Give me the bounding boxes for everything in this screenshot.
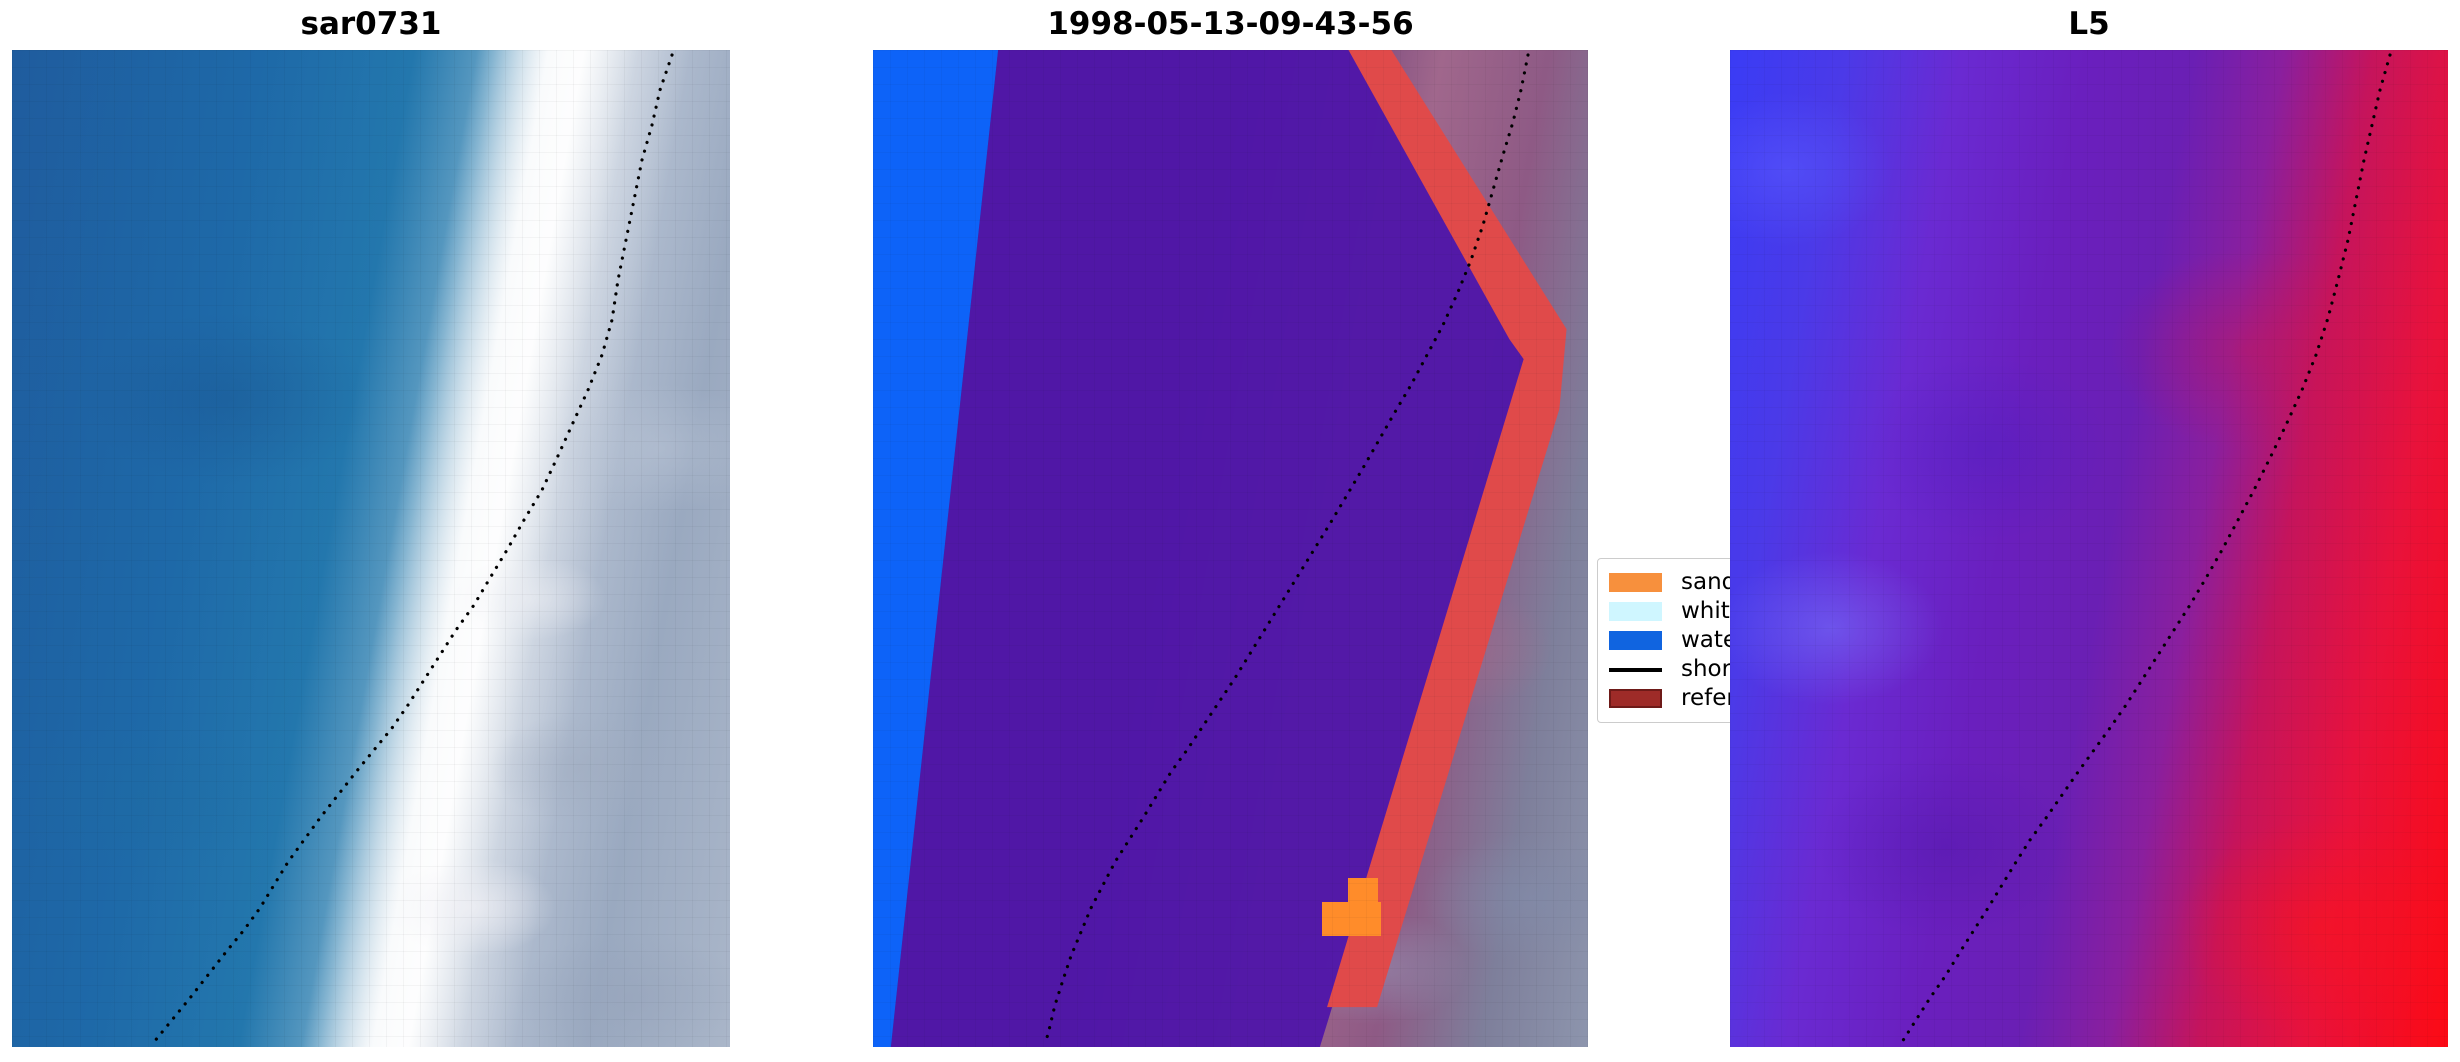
legend-item-water[interactable]: water bbox=[1609, 626, 1730, 655]
sar-raster bbox=[12, 50, 730, 1047]
legend-item-shoreline[interactable]: shoreline bbox=[1609, 655, 1730, 684]
index-pixel-grid bbox=[1730, 50, 2448, 1047]
panel-index-image[interactable] bbox=[1730, 50, 2448, 1047]
classified-pixel-grid bbox=[873, 50, 1588, 1047]
classified-raster bbox=[873, 50, 1588, 1047]
panel-title-sar: sar0731 bbox=[12, 4, 730, 44]
legend-label-reference-shoreline: reference shoreline bbox=[1681, 687, 1730, 710]
legend-swatch-sand bbox=[1609, 573, 1662, 592]
legend-label-water: water bbox=[1681, 629, 1730, 652]
legend[interactable]: sand whitewater water shoreline referenc… bbox=[1597, 558, 1730, 723]
legend-swatch-whitewater bbox=[1609, 602, 1662, 621]
legend-label-sand: sand bbox=[1681, 571, 1730, 594]
sar-pixel-grid bbox=[12, 50, 730, 1047]
legend-label-shoreline: shoreline bbox=[1681, 658, 1730, 681]
legend-item-sand[interactable]: sand bbox=[1609, 568, 1730, 597]
legend-item-reference-shoreline[interactable]: reference shoreline bbox=[1609, 684, 1730, 713]
legend-swatch-reference-shoreline bbox=[1609, 689, 1662, 708]
figure-canvas: sar0731 1998-05-13-09-43-56 L5 bbox=[0, 0, 2460, 1062]
panel-title-classified: 1998-05-13-09-43-56 bbox=[873, 4, 1588, 44]
index-raster bbox=[1730, 50, 2448, 1047]
panel-classified-image[interactable] bbox=[873, 50, 1588, 1047]
panel-sar-image[interactable] bbox=[12, 50, 730, 1047]
panel-title-index: L5 bbox=[1730, 4, 2448, 44]
legend-clip-region: sand whitewater water shoreline referenc… bbox=[1588, 548, 1730, 730]
legend-swatch-water bbox=[1609, 631, 1662, 650]
legend-item-whitewater[interactable]: whitewater bbox=[1609, 597, 1730, 626]
legend-swatch-shoreline bbox=[1609, 668, 1662, 672]
legend-label-whitewater: whitewater bbox=[1681, 600, 1730, 623]
